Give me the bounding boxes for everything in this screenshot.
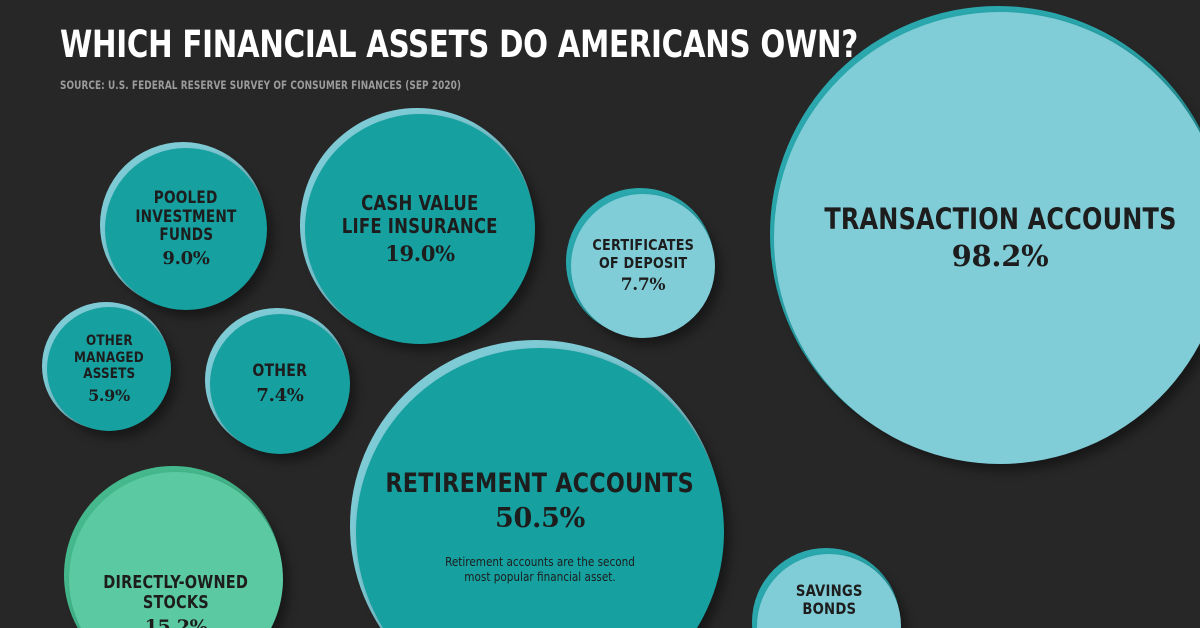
bubble-value-cash-value-life-insurance: 19.0% <box>385 241 455 266</box>
bubble-label-directly-owned-stocks-line2: STOCKS <box>143 594 209 614</box>
source-line: SOURCE: U.S. FEDERAL RESERVE SURVEY OF C… <box>60 78 840 92</box>
bubble-label-transaction-accounts: TRANSACTION ACCOUNTS <box>824 203 1176 236</box>
bubble-label-pooled-investment-funds-line3: FUNDS <box>159 226 213 245</box>
bubble-certificates-of-deposit[interactable]: CERTIFICATES OF DEPOSIT 7.7% <box>571 194 715 338</box>
bubble-other-managed-assets[interactable]: OTHER MANAGED ASSETS 5.9% <box>47 307 171 431</box>
bubble-value-certificates-of-deposit: 7.7% <box>621 275 666 295</box>
bubble-value-transaction-accounts: 98.2% <box>952 239 1049 273</box>
bubble-value-retirement-accounts: 50.5% <box>495 503 585 534</box>
bubble-label-pooled-investment-funds-line2: INVESTMENT <box>135 208 236 227</box>
bubble-label-other-managed-assets-line1: OTHER <box>86 333 133 349</box>
bubble-note-retirement-accounts: Retirement accounts are the second most … <box>442 554 637 585</box>
infographic-canvas: WHICH FINANCIAL ASSETS DO AMERICANS OWN?… <box>0 0 1200 628</box>
bubble-label-cash-value-life-insurance-line2: LIFE INSURANCE <box>342 215 498 238</box>
bubble-cash-value-life-insurance[interactable]: CASH VALUE LIFE INSURANCE 19.0% <box>305 114 535 344</box>
bubble-label-other: OTHER <box>253 362 308 381</box>
bubble-pooled-investment-funds[interactable]: POOLED INVESTMENT FUNDS 9.0% <box>105 148 267 310</box>
bubble-label-savings-bonds-line1: SAVINGS <box>796 582 863 600</box>
bubble-label-certificates-of-deposit-line2: OF DEPOSIT <box>599 255 687 273</box>
bubble-value-other: 7.4% <box>256 385 303 406</box>
bubble-label-retirement-accounts: RETIREMENT ACCOUNTS <box>386 469 695 500</box>
bubble-label-other-managed-assets-line2: MANAGED <box>74 350 144 366</box>
bubble-value-pooled-investment-funds: 9.0% <box>162 248 209 269</box>
bubble-value-directly-owned-stocks: 15.2% <box>145 616 208 628</box>
bubble-value-other-managed-assets: 5.9% <box>88 386 130 405</box>
bubble-other[interactable]: OTHER 7.4% <box>210 314 350 454</box>
bubble-label-directly-owned-stocks-line1: DIRECTLY-OWNED <box>104 574 249 594</box>
bubble-label-pooled-investment-funds-line1: POOLED <box>154 189 218 208</box>
bubble-label-certificates-of-deposit-line1: CERTIFICATES <box>592 237 694 255</box>
page-title: WHICH FINANCIAL ASSETS DO AMERICANS OWN? <box>60 26 858 65</box>
bubble-label-savings-bonds-line2: BONDS <box>802 600 856 618</box>
header: WHICH FINANCIAL ASSETS DO AMERICANS OWN?… <box>60 26 967 92</box>
bubble-label-other-managed-assets-line3: ASSETS <box>83 366 135 382</box>
bubble-label-cash-value-life-insurance-line1: CASH VALUE <box>361 192 478 215</box>
